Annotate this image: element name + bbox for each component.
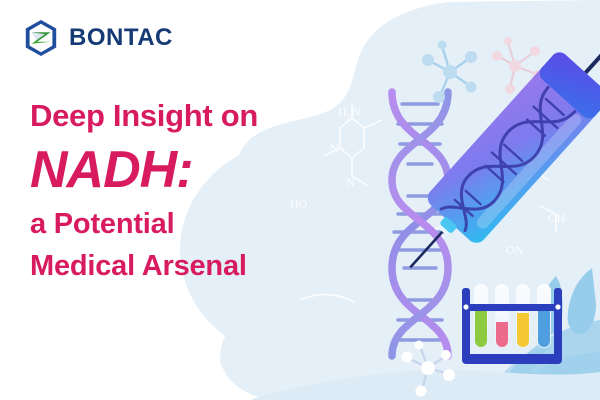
test-tubes (474, 284, 551, 348)
test-tube (516, 284, 530, 348)
test-tube (495, 284, 509, 348)
headline-block: Deep Insight on NADH: a Potential Medica… (30, 100, 360, 281)
headline-line-4: Medical Arsenal (30, 252, 360, 281)
hexagon-leaf-logo-icon (22, 19, 60, 57)
dna-strand-b (392, 92, 448, 356)
dna-double-helix-icon (392, 92, 448, 356)
tube-liquid-pink (496, 322, 508, 347)
test-tube (537, 284, 551, 348)
test-tube (474, 284, 488, 348)
banner-graphic: H2N N N HO Na H H2 O N OH ON H (0, 0, 600, 400)
tube-liquid-green (475, 310, 487, 347)
headline-line-2: NADH: (30, 144, 360, 196)
brand-logo[interactable]: BONTAC (22, 19, 173, 57)
brand-wordmark: BONTAC (69, 26, 173, 50)
tube-liquid-yellow (517, 313, 529, 347)
test-tube-rack-icon (462, 284, 562, 364)
tube-liquid-blue (538, 311, 550, 347)
headline-line-1: Deep Insight on (30, 100, 360, 131)
headline-line-3: a Potential (30, 210, 360, 239)
